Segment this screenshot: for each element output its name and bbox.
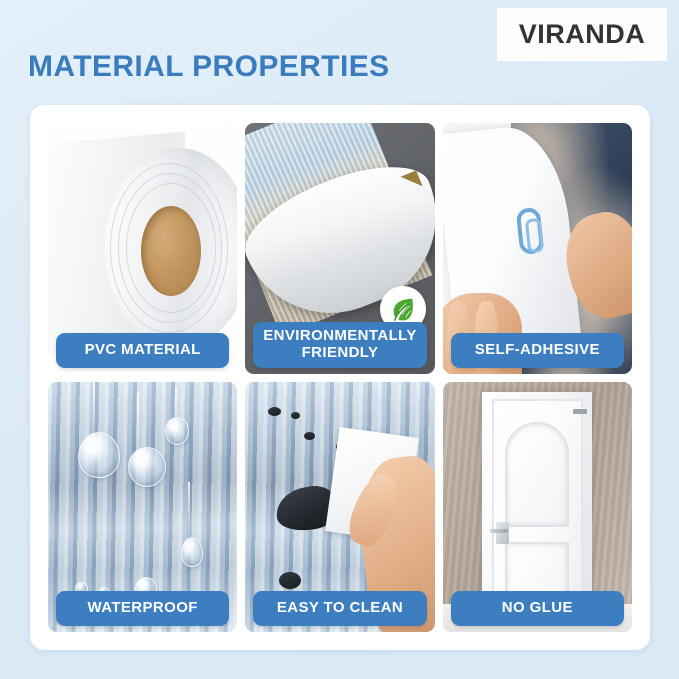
leaf-icon (388, 294, 418, 324)
feature-tile-pvc-material: PVC MATERIAL (48, 123, 237, 374)
feature-label-environmentally-friendly: ENVIRONMENTALLY FRIENDLY (253, 322, 426, 368)
feature-tile-environmentally-friendly: ENVIRONMENTALLY FRIENDLY (245, 123, 434, 374)
feature-label-waterproof: WATERPROOF (56, 591, 229, 626)
feature-tile-self-adhesive: SELF-ADHESIVE (443, 123, 632, 374)
feature-label-no-glue: NO GLUE (451, 591, 624, 626)
feature-tile-easy-to-clean: EASY TO CLEAN (245, 382, 434, 633)
feature-label-easy-to-clean: EASY TO CLEAN (253, 591, 426, 626)
brand-name: VIRANDA (519, 19, 646, 50)
feature-tile-waterproof: WATERPROOF (48, 382, 237, 633)
feature-grid: PVC MATERIAL ENVIRONMENTALLY FRIENDLY (30, 105, 650, 650)
feature-label-pvc-material: PVC MATERIAL (56, 333, 229, 368)
brand-logo: VIRANDA (497, 8, 667, 61)
feature-label-self-adhesive: SELF-ADHESIVE (451, 333, 624, 368)
page-title: MATERIAL PROPERTIES (28, 50, 390, 84)
feature-tile-no-glue: NO GLUE (443, 382, 632, 633)
